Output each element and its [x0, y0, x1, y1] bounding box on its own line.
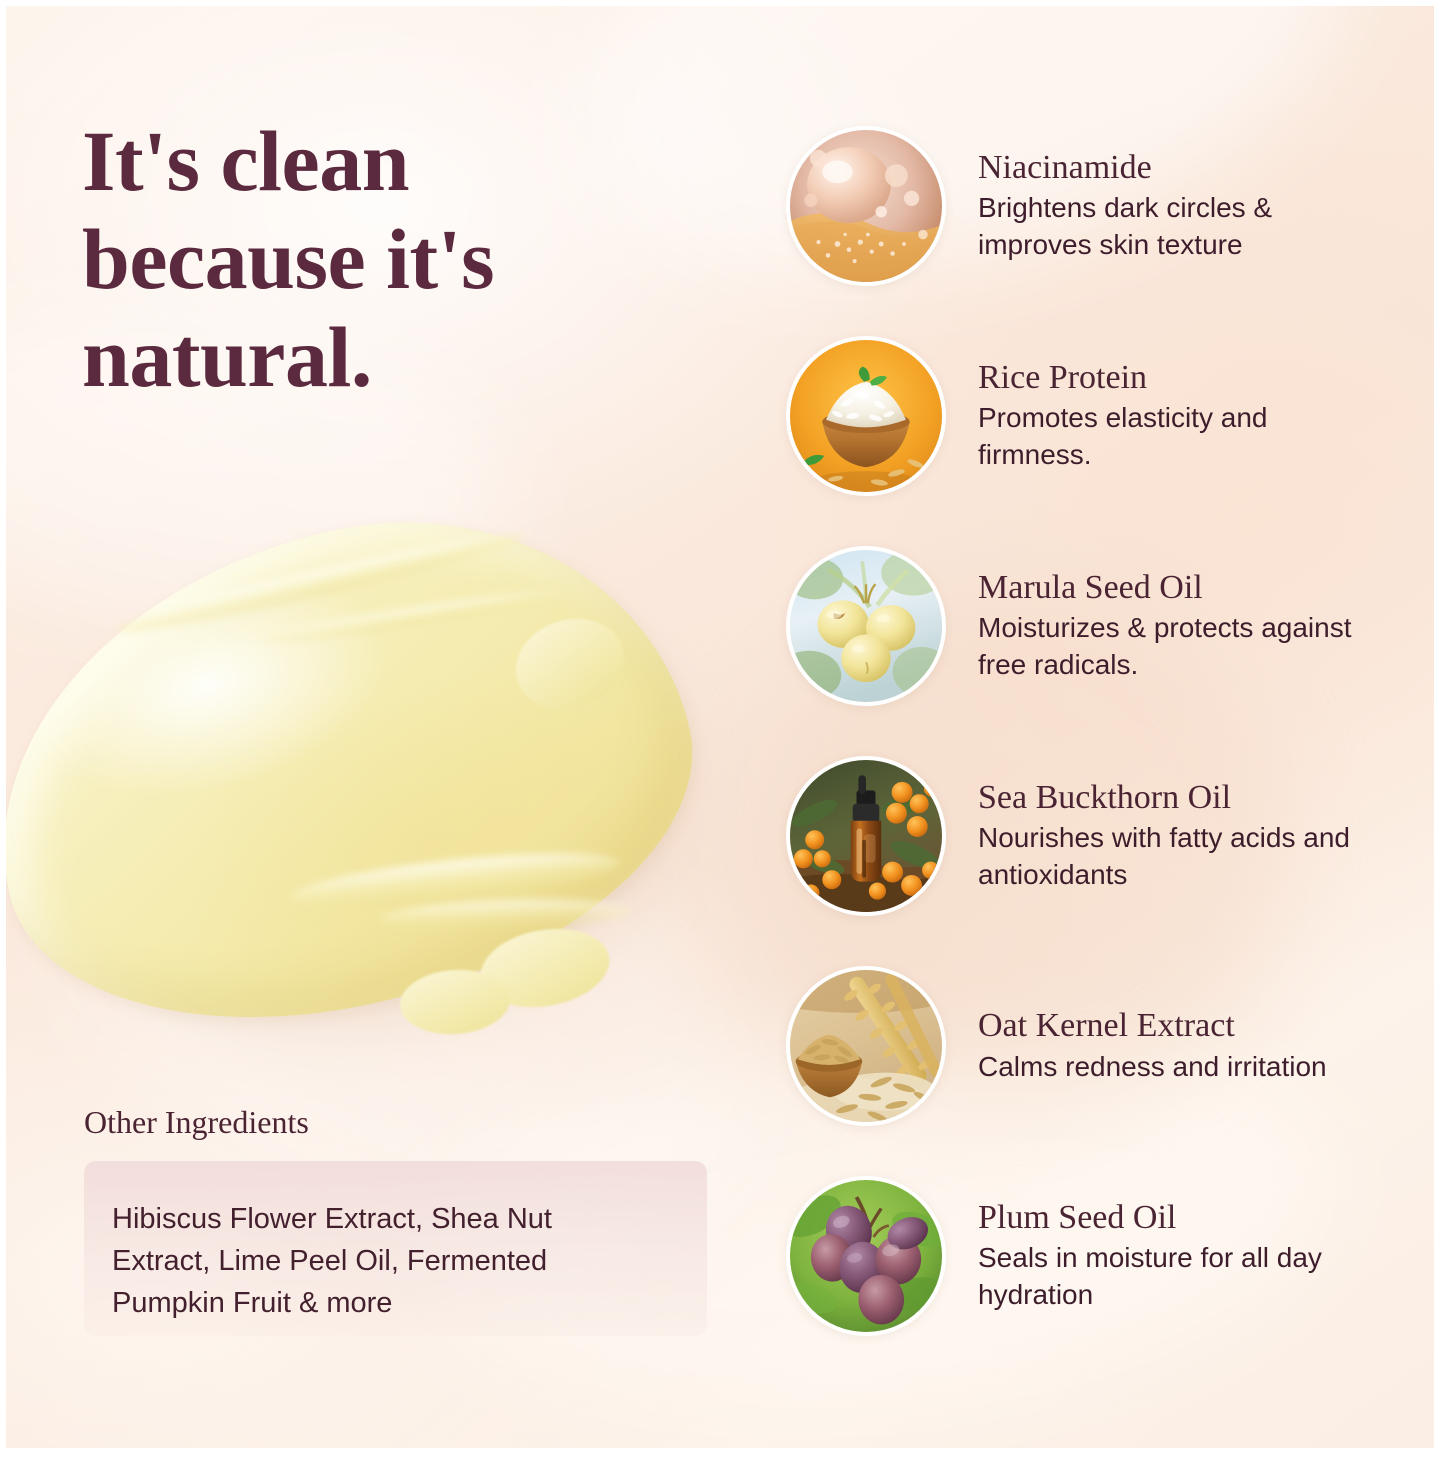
- cream-swatch-image: [0, 500, 780, 1120]
- poster-edge-right: [1434, 0, 1445, 1459]
- list-item: Sea Buckthorn Oil Nourishes with fatty a…: [786, 748, 1406, 923]
- ingredient-description: Moisturizes & protects against free radi…: [978, 609, 1378, 683]
- ingredient-text-block: Niacinamide Brightens dark circles & imp…: [978, 148, 1378, 264]
- ingredient-name: Sea Buckthorn Oil: [978, 778, 1378, 817]
- rice-bowl-image: [786, 336, 946, 496]
- ingredient-text-block: Oat Kernel Extract Calms redness and irr…: [978, 1006, 1378, 1085]
- marula-fruit-image: [786, 546, 946, 706]
- ingredient-description: Promotes elasticity and firmness.: [978, 399, 1378, 473]
- ingredient-description: Brightens dark circles & improves skin t…: [978, 189, 1378, 263]
- ingredient-text-block: Sea Buckthorn Oil Nourishes with fatty a…: [978, 778, 1378, 894]
- oat-grains-bowl-image: [786, 966, 946, 1126]
- list-item: Plum Seed Oil Seals in moisture for all …: [786, 1168, 1406, 1343]
- ingredient-text-block: Plum Seed Oil Seals in moisture for all …: [978, 1198, 1378, 1314]
- ingredient-infographic-poster: It's clean because it's natural. Other I…: [0, 0, 1445, 1459]
- ingredient-text-block: Rice Protein Promotes elasticity and fir…: [978, 358, 1378, 474]
- list-item: Oat Kernel Extract Calms redness and irr…: [786, 958, 1406, 1133]
- ingredient-text-block: Marula Seed Oil Moisturizes & protects a…: [978, 568, 1378, 684]
- ingredient-name: Rice Protein: [978, 358, 1378, 397]
- headline-line-2: because it's: [82, 210, 742, 308]
- niacinamide-serum-bubbles-image: [786, 126, 946, 286]
- ingredient-list: Niacinamide Brightens dark circles & imp…: [786, 118, 1406, 1343]
- other-ingredients-title: Other Ingredients: [84, 1104, 309, 1141]
- ingredient-name: Oat Kernel Extract: [978, 1006, 1378, 1045]
- ingredient-name: Marula Seed Oil: [978, 568, 1378, 607]
- page-title: It's clean because it's natural.: [82, 112, 742, 406]
- headline-line-1: It's clean: [82, 112, 742, 210]
- headline-line-3: natural.: [82, 308, 742, 406]
- ingredient-description: Calms redness and irritation: [978, 1048, 1378, 1085]
- ingredient-name: Niacinamide: [978, 148, 1378, 187]
- other-ingredients-text: Hibiscus Flower Extract, Shea Nut Extrac…: [112, 1198, 632, 1324]
- ingredient-description: Nourishes with fatty acids and antioxida…: [978, 819, 1378, 893]
- poster-edge-bottom: [0, 1448, 1445, 1459]
- ingredient-description: Seals in moisture for all day hydration: [978, 1239, 1378, 1313]
- cream-swatch-body: [0, 462, 734, 1077]
- plum-fruit-image: [786, 1176, 946, 1336]
- list-item: Marula Seed Oil Moisturizes & protects a…: [786, 538, 1406, 713]
- sea-buckthorn-dropper-bottle-image: [786, 756, 946, 916]
- ingredient-name: Plum Seed Oil: [978, 1198, 1378, 1237]
- list-item: Niacinamide Brightens dark circles & imp…: [786, 118, 1406, 293]
- list-item: Rice Protein Promotes elasticity and fir…: [786, 328, 1406, 503]
